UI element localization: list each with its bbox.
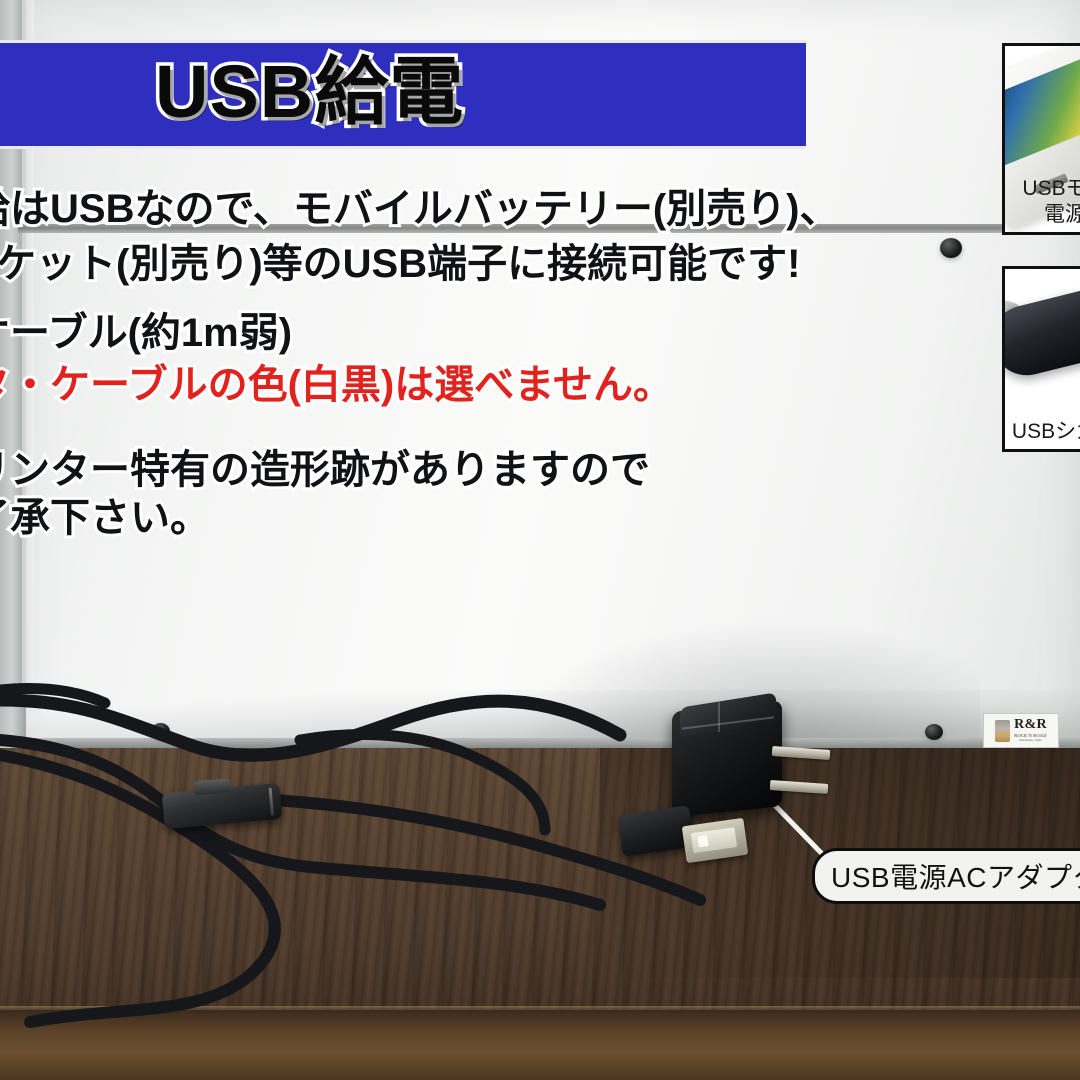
rr-text-block: R&R ROCK'N ROAD handmade light bbox=[1014, 718, 1047, 742]
description-line-6: 了承下さい。 bbox=[0, 485, 210, 543]
usb-plug-slot bbox=[691, 827, 737, 853]
callout-text: USB電源ACアダプタ bbox=[831, 856, 1080, 896]
rr-brand-sticker: R&R ROCK'N ROAD handmade light bbox=[983, 713, 1059, 748]
battery-caption-line1: USBモバ bbox=[1022, 177, 1080, 200]
rr-subtext: handmade light bbox=[1019, 739, 1042, 742]
board-magnet-3 bbox=[940, 238, 962, 258]
thumbnail-panel-battery[interactable]: USBモバ 電源 bbox=[1002, 43, 1080, 235]
thumbnail-caption-battery: USBモバ 電源 bbox=[1005, 176, 1080, 228]
cigarette-caption-line1: USBシガー bbox=[1012, 420, 1080, 443]
description-line-2: ソケット(別売り)等のUSB端子に接続可能です! bbox=[0, 231, 800, 289]
switch-toggle-nub bbox=[194, 778, 231, 795]
switch-edge-highlight bbox=[269, 788, 274, 816]
thumbnail-caption-cigarette: USBシガー bbox=[1005, 419, 1080, 445]
usb-ac-adapter bbox=[672, 706, 794, 824]
adapter-callout-label: USB電源ACアダプタ bbox=[812, 848, 1080, 904]
description-line-1: 給はUSBなので、モバイルバッテリー(別売り)、 bbox=[0, 176, 840, 234]
description-line-3: ケーブル(約1m弱) bbox=[0, 300, 292, 358]
rr-crest-icon bbox=[995, 720, 1010, 742]
board-magnet-1 bbox=[151, 723, 170, 740]
thumbnail-panel-cigarette[interactable]: USBシガー bbox=[1002, 266, 1080, 452]
screenshot-root: R&R ROCK'N ROAD handmade light bbox=[0, 0, 1080, 1080]
description-line-4: タ・ケーブルの色(白黒)は選べません。 bbox=[0, 352, 673, 410]
table-front-edge bbox=[0, 1010, 1080, 1080]
page-title: USB給電 bbox=[155, 47, 795, 137]
cigarette-socket-body bbox=[1002, 273, 1080, 382]
battery-screen bbox=[1002, 58, 1080, 166]
battery-caption-line2: 電源 bbox=[1005, 202, 1080, 228]
rr-brand-name: R&R bbox=[1014, 718, 1047, 732]
whiteboard-shadow bbox=[18, 690, 1080, 742]
adapter-seam-vertical bbox=[718, 702, 720, 732]
board-magnet-2 bbox=[925, 724, 943, 740]
